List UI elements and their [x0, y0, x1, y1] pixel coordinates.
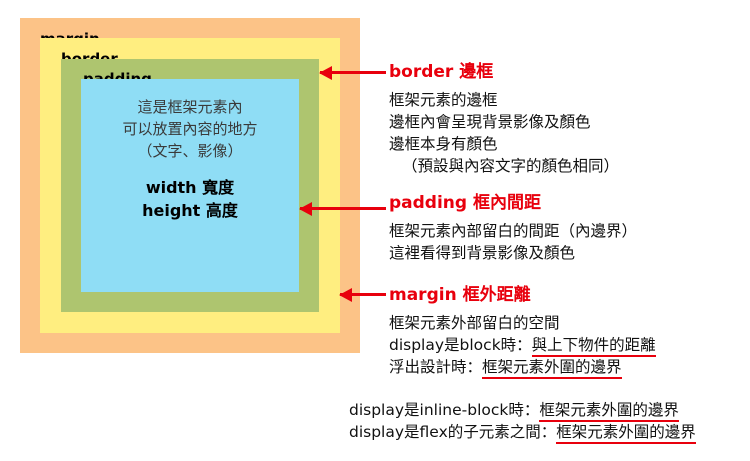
border-annotation: border 邊框 框架元素的邊框 邊框內會呈現背景影像及顏色 邊框本身有顏色 …: [389, 62, 619, 177]
margin-annotation: margin 框外距離 框架元素外部留白的空間 display是block時：與…: [389, 285, 656, 378]
margin-block-prefix: display是block時：: [389, 336, 532, 354]
margin-annotation-line-float: 浮出設計時：框架元素外圍的邊界: [389, 356, 656, 378]
content-text-line: 這是框架元素內: [137, 96, 242, 118]
inline-block-underlined: 框架元素外圍的邊界: [539, 401, 679, 422]
padding-annotation-line: 這裡看得到背景影像及顏色: [389, 242, 637, 264]
border-layer: border padding 這是框架元素內 可以放置內容的地方 （文字、影像）…: [40, 38, 340, 333]
margin-layer: margin border padding 這是框架元素內 可以放置內容的地方 …: [20, 18, 360, 353]
border-arrow-icon: [320, 71, 386, 74]
margin-annotation-line: 框架元素外部留白的空間: [389, 312, 656, 334]
margin-arrow-icon: [340, 293, 386, 296]
margin-float-underlined: 框架元素外圍的邊界: [482, 358, 622, 379]
border-annotation-body: 框架元素的邊框 邊框內會呈現背景影像及顏色 邊框本身有顏色 （預設與內容文字的顏…: [389, 89, 619, 177]
margin-annotation-title: margin 框外距離: [389, 285, 656, 305]
padding-annotation: padding 框內間距 框架元素內部留白的間距（內邊界） 這裡看得到背景影像及…: [389, 193, 637, 264]
content-height-label: height 高度: [142, 199, 238, 222]
padding-layer: padding 這是框架元素內 可以放置內容的地方 （文字、影像） width …: [61, 59, 319, 312]
flex-note: display是flex的子元素之間：框架元素外圍的邊界: [349, 421, 696, 443]
display-notes: display是inline-block時：框架元素外圍的邊界 display是…: [349, 399, 696, 443]
margin-annotation-line-block: display是block時：與上下物件的距離: [389, 334, 656, 356]
inline-block-note: display是inline-block時：框架元素外圍的邊界: [349, 399, 696, 421]
margin-annotation-body: 框架元素外部留白的空間 display是block時：與上下物件的距離 浮出設計…: [389, 312, 656, 378]
padding-annotation-body: 框架元素內部留白的間距（內邊界） 這裡看得到背景影像及顏色: [389, 220, 637, 264]
flex-prefix: display是flex的子元素之間：: [349, 423, 556, 441]
content-dimensions: width 寬度 height 高度: [142, 176, 238, 222]
content-width-label: width 寬度: [142, 176, 238, 199]
flex-underlined: 框架元素外圍的邊界: [556, 423, 696, 444]
border-annotation-line: （預設與內容文字的顏色相同）: [389, 155, 619, 177]
padding-arrow-icon: [300, 207, 386, 210]
content-text-line: （文字、影像）: [137, 140, 242, 162]
padding-annotation-title: padding 框內間距: [389, 193, 637, 213]
border-annotation-line: 邊框內會呈現背景影像及顏色: [389, 111, 619, 133]
content-text-line: 可以放置內容的地方: [122, 118, 257, 140]
margin-float-prefix: 浮出設計時：: [389, 358, 482, 376]
inline-block-prefix: display是inline-block時：: [349, 401, 539, 419]
border-annotation-line: 邊框本身有顏色: [389, 133, 619, 155]
margin-block-underlined: 與上下物件的距離: [532, 336, 656, 357]
box-model-diagram: margin border padding 這是框架元素內 可以放置內容的地方 …: [20, 18, 360, 353]
border-annotation-line: 框架元素的邊框: [389, 89, 619, 111]
content-layer: 這是框架元素內 可以放置內容的地方 （文字、影像） width 寬度 heigh…: [81, 79, 299, 292]
border-annotation-title: border 邊框: [389, 62, 619, 82]
padding-annotation-line: 框架元素內部留白的間距（內邊界）: [389, 220, 637, 242]
